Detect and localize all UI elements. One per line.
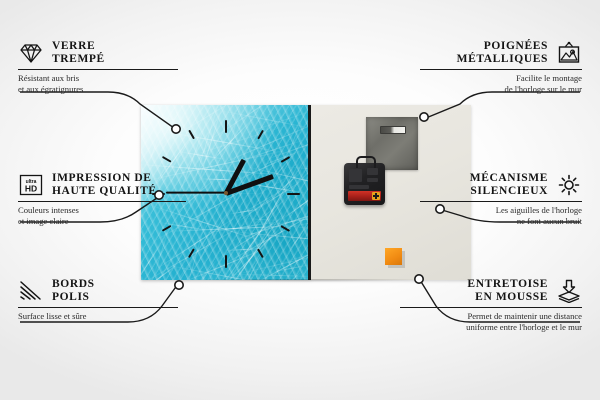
ultra-hd-icon: ultra HD (18, 173, 44, 197)
callout-description: Permet de maintenir une distance uniform… (400, 311, 582, 332)
callout-description: Facilite le montage de l'horloge sur le … (420, 73, 582, 94)
clock-center-pin (224, 191, 228, 195)
callout-divider (400, 307, 582, 308)
mechanism-detail (367, 168, 378, 175)
callout-title: VERRE TREMPÉ (52, 40, 105, 66)
callout-impression-haute-qualite: ultra HD IMPRESSION DE HAUTE QUALITÉ Cou… (18, 172, 186, 226)
callout-title: MÉCANISME SILENCIEUX (470, 172, 548, 198)
callout-mecanisme-silencieux: MÉCANISME SILENCIEUX Les aiguilles de l'… (420, 172, 582, 226)
foam-spacer-icon (556, 279, 582, 303)
callout-description: Les aiguilles de l'horloge ne font aucun… (420, 205, 582, 226)
callout-divider (18, 69, 178, 70)
mechanism-detail (367, 178, 378, 182)
clock-tick (225, 120, 227, 133)
callout-entretoise-en-mousse: ENTRETOISE EN MOUSSE Permet de maintenir… (400, 278, 582, 332)
mechanism-detail (349, 169, 362, 182)
callout-title: POIGNÉES MÉTALLIQUES (457, 40, 548, 66)
callout-verre-trempe: VERRE TREMPÉ Résistant aux bris et aux é… (18, 40, 178, 94)
hanger-slot (380, 126, 406, 134)
battery-terminal-icon (372, 192, 380, 200)
callout-bords-polis: BORDS POLIS Surface lisse et sûre (18, 278, 178, 322)
callout-divider (18, 307, 178, 308)
callout-description: Surface lisse et sûre (18, 311, 178, 322)
svg-text:HD: HD (25, 184, 37, 194)
polished-edge-icon (18, 279, 44, 303)
picture-hanger-icon (556, 41, 582, 65)
infographic-canvas: VERRE TREMPÉ Résistant aux bris et aux é… (0, 0, 600, 400)
clock-tick (225, 255, 227, 268)
callout-title: BORDS POLIS (52, 278, 95, 304)
callout-header: ultra HD IMPRESSION DE HAUTE QUALITÉ (18, 172, 186, 198)
callout-header: ENTRETOISE EN MOUSSE (400, 278, 582, 304)
callout-header: MÉCANISME SILENCIEUX (420, 172, 582, 198)
callout-description: Couleurs intenses et image claire (18, 205, 186, 226)
diamond-icon (18, 41, 44, 65)
callout-description: Résistant aux bris et aux égratignures (18, 73, 178, 94)
callout-header: VERRE TREMPÉ (18, 40, 178, 66)
callout-poignees-metalliques: POIGNÉES MÉTALLIQUES Facilite le montage… (420, 40, 582, 94)
gear-icon (556, 173, 582, 197)
callout-header: POIGNÉES MÉTALLIQUES (420, 40, 582, 66)
callout-header: BORDS POLIS (18, 278, 178, 304)
callout-divider (420, 201, 582, 202)
mechanism-detail (349, 185, 369, 189)
callout-title: ENTRETOISE EN MOUSSE (467, 278, 548, 304)
clock-mechanism (344, 163, 385, 205)
callout-divider (420, 69, 582, 70)
mechanism-hook (356, 156, 376, 168)
foam-spacer (385, 248, 402, 265)
clock-tick (287, 193, 300, 195)
callout-title: IMPRESSION DE HAUTE QUALITÉ (52, 172, 157, 198)
callout-divider (18, 201, 186, 202)
battery (348, 191, 381, 201)
